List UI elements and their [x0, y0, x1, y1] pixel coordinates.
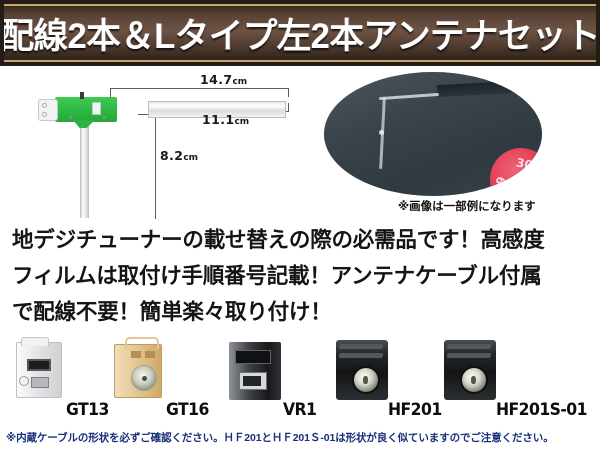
windshield-photo: 9 30	[324, 72, 542, 196]
connector-item-gt13: GT13	[8, 336, 104, 422]
hf201-connector-body	[336, 340, 388, 400]
antenna-film-green-base	[55, 97, 117, 122]
connector-type-row: GT13 GT16 VR1	[0, 336, 600, 422]
dimension-label-height: 8.2cm	[160, 148, 198, 163]
gt16-connector-body	[114, 344, 162, 398]
antenna-cable-stub	[80, 92, 84, 99]
hf201-coax-ring	[352, 366, 380, 394]
installed-antenna-node	[379, 130, 384, 135]
connector-label-gt13: GT13	[66, 400, 109, 420]
antenna-film-chip	[92, 102, 101, 115]
connector-image-vr1	[225, 336, 287, 402]
gt16-arm	[125, 337, 159, 349]
connector-label-hf201s01: HF201S-01	[496, 400, 587, 420]
antenna-film-hole-bottom	[42, 112, 47, 117]
hf201s01-rib-top	[446, 344, 491, 349]
antenna-film-dot-left	[69, 116, 72, 119]
connector-item-hf201s01: HF201S-01	[438, 336, 534, 422]
connector-label-vr1: VR1	[283, 400, 316, 420]
header-banner: 配線2本＆Lタイプ左2本アンテナセット	[0, 0, 600, 66]
vr1-port	[243, 376, 261, 386]
dimension-unit-total-width: cm	[232, 77, 247, 87]
dimension-bracket-height	[138, 114, 156, 219]
header-inner-frame: 配線2本＆Lタイプ左2本アンテナセット	[4, 4, 596, 62]
gt13-knob	[19, 376, 29, 386]
vr1-connector-body	[229, 342, 281, 400]
vr1-top-slab	[235, 350, 271, 364]
dimension-value-inner-width: 11.1	[202, 112, 234, 127]
footer-disclaimer: ※内蔵ケーブルの形状を必ずご確認ください。ＨＦ201とＨＦ201Ｓ-01は形状が…	[6, 430, 598, 445]
photo-disclaimer-note: ※画像は一部例になります	[398, 198, 536, 214]
dimension-label-total-width: 14.7cm	[200, 72, 247, 87]
connector-item-gt16: GT16	[108, 336, 204, 422]
connector-image-hf201s01	[438, 336, 500, 402]
antenna-film-hole-top	[42, 103, 47, 108]
hf201s01-connector-body	[444, 340, 496, 400]
connector-label-hf201: HF201	[388, 400, 442, 420]
connector-item-vr1: VR1	[225, 336, 321, 422]
dimension-value-total-width: 14.7	[200, 72, 232, 87]
gt13-connector-body	[16, 342, 62, 398]
gt13-port	[27, 359, 51, 371]
dimension-unit-height: cm	[183, 153, 198, 163]
connector-image-gt16	[108, 336, 170, 402]
hf201-rib-bottom	[338, 353, 383, 358]
description-line-2: フィルムは取付け手順番号記載！アンテナケーブル付属	[12, 258, 588, 294]
dimension-unit-inner-width: cm	[234, 117, 249, 127]
antenna-film-green-foot	[73, 120, 95, 128]
hf201s01-coax-ring	[460, 366, 488, 394]
dimension-bracket-total-width	[110, 88, 289, 97]
page-title: 配線2本＆Lタイプ左2本アンテナセット	[4, 8, 596, 59]
description-line-3: で配線不要！簡単楽々取り付け！	[12, 294, 588, 330]
gt13-secondary-port	[31, 377, 49, 388]
dimension-label-inner-width: 11.1cm	[202, 112, 249, 127]
antenna-dimension-diagram: 14.7cm 11.1cm 8.2cm	[0, 66, 300, 218]
gt16-slot-right	[145, 351, 155, 358]
connector-label-gt16: GT16	[166, 400, 209, 420]
hf201s01-rib-bottom	[446, 353, 491, 358]
description-line-1: 地デジチューナーの載せ替えの際の必需品です！高感度	[12, 222, 588, 258]
antenna-film-dot-right	[103, 116, 106, 119]
sticker-number-right: 30	[515, 155, 534, 172]
installation-photo-region: 9 30 ※画像は一部例になります	[300, 66, 600, 218]
gt13-clip	[21, 337, 49, 346]
dimension-value-height: 8.2	[160, 148, 183, 163]
product-banner: 配線2本＆Lタイプ左2本アンテナセット 14.7cm 11.1cm 8.2cm	[0, 0, 600, 450]
antenna-film-vertical-arm	[80, 116, 89, 218]
sticker-number-left: 9	[493, 175, 509, 188]
connector-image-gt13	[8, 336, 70, 402]
gt16-slot-left	[131, 351, 141, 358]
description-block: 地デジチューナーの載せ替えの際の必需品です！高感度 フィルムは取付け手順番号記載…	[0, 222, 600, 330]
gt16-coax-ring	[131, 365, 157, 391]
hf201-rib-top	[338, 344, 383, 349]
connector-item-hf201: HF201	[330, 336, 426, 422]
antenna-film-mount-tab	[38, 99, 58, 121]
connector-image-hf201	[330, 336, 392, 402]
